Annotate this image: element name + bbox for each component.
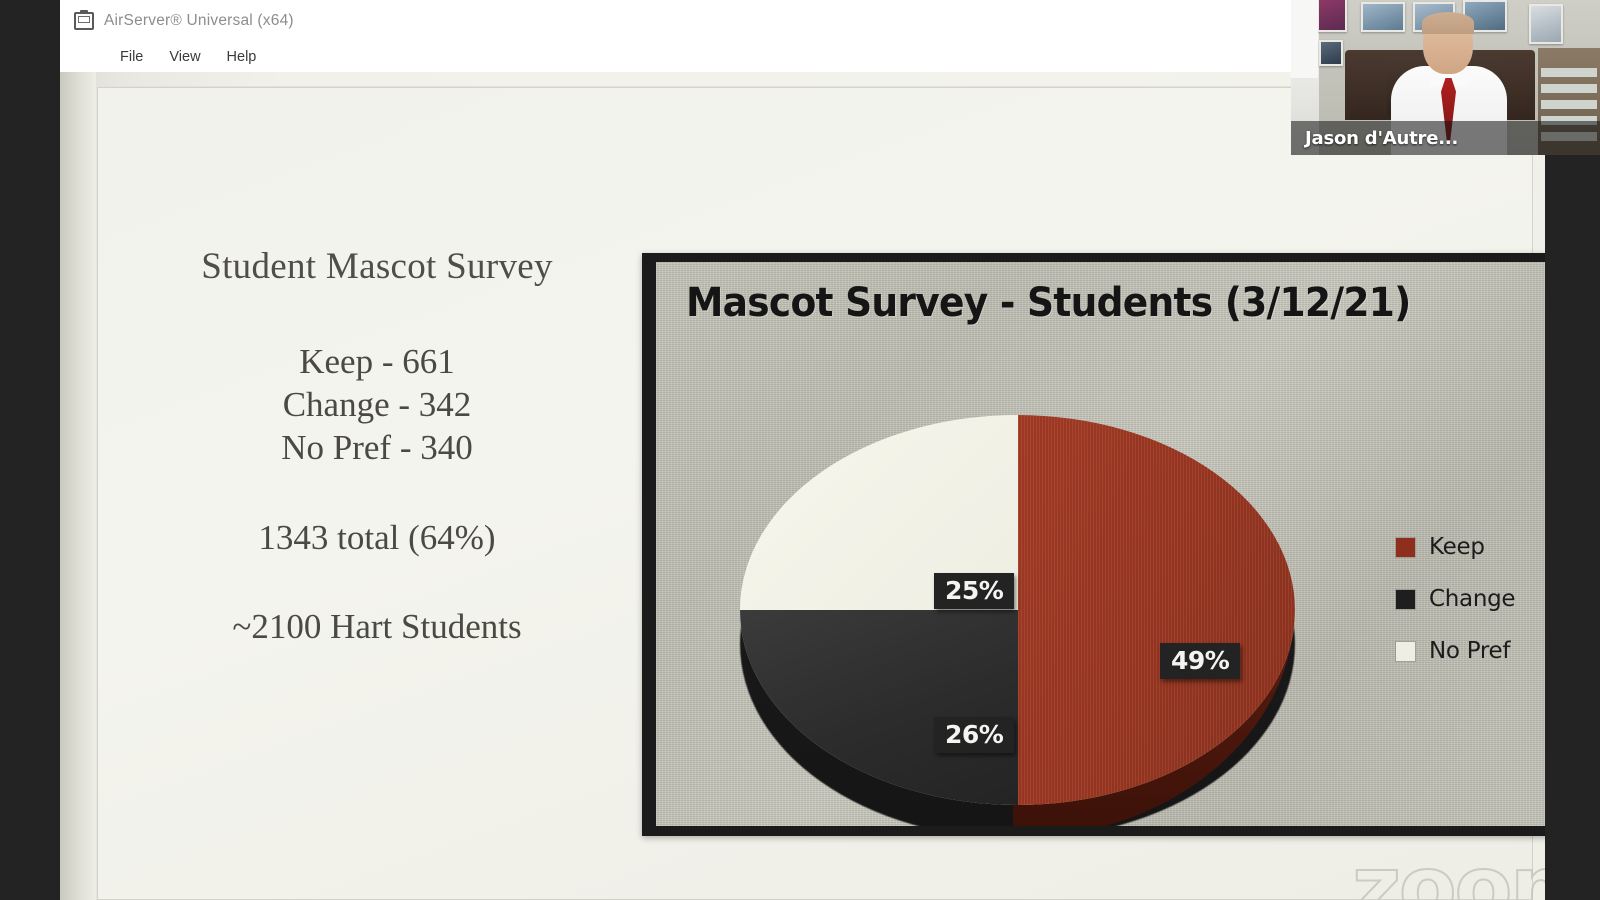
menu-item-help[interactable]: Help [227, 50, 257, 65]
screen-mirror-area: Student Mascot Survey Keep - 661 Change … [60, 72, 1545, 900]
legend-item-keep: Keep [1396, 534, 1545, 560]
chart-surface: Mascot Survey - Students (3/12/21) 25% 4… [656, 262, 1545, 826]
spacer [157, 559, 597, 605]
spacer [157, 288, 597, 340]
menu-item-view[interactable]: View [169, 50, 200, 65]
legend-item-no-pref: No Pref [1396, 638, 1545, 664]
chart-legend: Keep Change No Pref [1396, 534, 1545, 664]
screen-root: AirServer® Universal (x64) File View Hel… [0, 0, 1600, 900]
pie-label-no-pref: 25% [934, 573, 1014, 609]
wall-picture [1361, 2, 1405, 32]
pie-label-change: 26% [934, 717, 1014, 753]
wall-picture [1529, 4, 1563, 44]
chart-title: Mascot Survey - Students (3/12/21) [686, 280, 1500, 326]
slide-line-change: Change - 342 [157, 383, 597, 426]
book [1541, 84, 1597, 93]
presentation-slide: Student Mascot Survey Keep - 661 Change … [96, 86, 1533, 900]
book [1541, 100, 1597, 109]
slide-text-block: Student Mascot Survey Keep - 661 Change … [157, 247, 597, 649]
slide-line-nopref: No Pref - 340 [157, 426, 597, 469]
slide-line-total: 1343 total (64%) [157, 516, 597, 559]
self-view-video-tile[interactable]: Jason d'Autre... [1291, 0, 1600, 155]
legend-label-change: Change [1429, 586, 1515, 612]
legend-swatch-change [1396, 590, 1415, 609]
wall-picture [1319, 40, 1343, 66]
pie-slice-change [740, 610, 1018, 805]
pie-label-keep: 49% [1160, 643, 1240, 679]
airserver-icon [74, 12, 94, 30]
slide-line-population: ~2100 Hart Students [157, 605, 597, 648]
video-white-edge [1291, 0, 1318, 78]
pie-graphic: 25% 49% 26% [708, 357, 1328, 826]
participant-name: Jason d'Autre... [1305, 128, 1458, 149]
slide-heading: Student Mascot Survey [157, 247, 597, 288]
legend-label-keep: Keep [1429, 534, 1485, 560]
zoom-watermark: zoom [1352, 845, 1545, 900]
participant-name-strip: Jason d'Autre... [1291, 121, 1600, 155]
spacer [157, 470, 597, 516]
legend-label-no-pref: No Pref [1429, 638, 1510, 664]
menu-item-file[interactable]: File [120, 50, 143, 65]
book [1541, 68, 1597, 77]
person-hair [1422, 12, 1474, 34]
pie-slice-keep [1018, 415, 1296, 805]
window-title: AirServer® Universal (x64) [104, 12, 294, 30]
pie-chart-image: Mascot Survey - Students (3/12/21) 25% 4… [642, 253, 1545, 836]
legend-swatch-no-pref [1396, 642, 1415, 661]
legend-swatch-keep [1396, 538, 1415, 557]
legend-item-change: Change [1396, 586, 1545, 612]
wall-picture [1317, 0, 1347, 32]
pie-top-face [740, 415, 1295, 805]
mirror-left-shade [60, 72, 96, 900]
slide-line-keep: Keep - 661 [157, 340, 597, 383]
